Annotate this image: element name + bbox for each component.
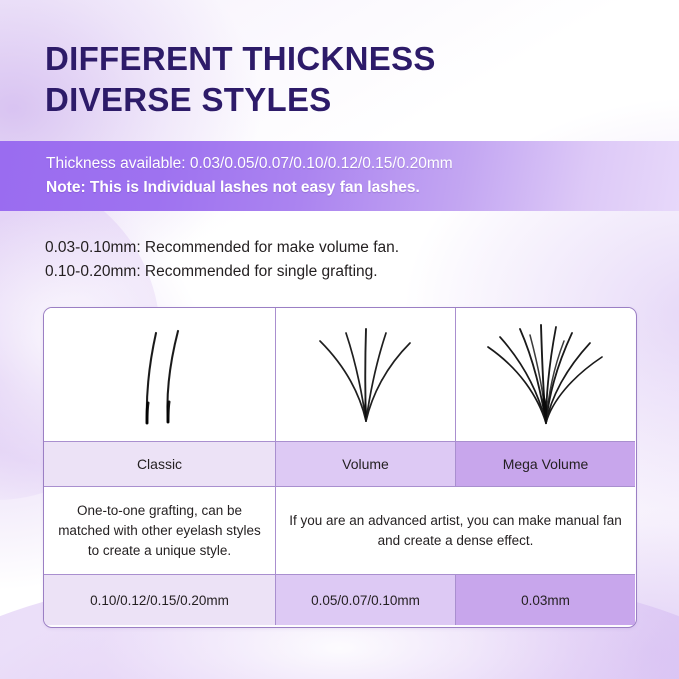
page-content: DIFFERENT THICKNESS DIVERSE STYLES Thick…	[0, 0, 679, 679]
classic-lash-illustration	[100, 319, 220, 431]
recommendation-single-grafting: 0.10-0.20mm: Recommended for single graf…	[45, 260, 645, 284]
thickness-classic: 0.10/0.12/0.15/0.20mm	[44, 575, 276, 625]
table-row-illustrations	[44, 308, 636, 442]
thickness-banner: Thickness available: 0.03/0.05/0.07/0.10…	[0, 141, 679, 211]
cell-illustration-classic	[44, 308, 276, 442]
banner-note: Note: This is Individual lashes not easy…	[46, 176, 679, 200]
thickness-volume: 0.05/0.07/0.10mm	[276, 575, 456, 625]
description-classic: One-to-one grafting, can be matched with…	[44, 487, 276, 575]
table-row-descriptions: One-to-one grafting, can be matched with…	[44, 487, 636, 575]
lash-styles-comparison-table: Classic Volume Mega Volume One-to-one gr…	[43, 307, 637, 628]
page-title-line-1: DIFFERENT THICKNESS	[45, 38, 645, 79]
table-row-style-labels: Classic Volume Mega Volume	[44, 442, 636, 487]
description-volume-mega: If you are an advanced artist, you can m…	[276, 487, 635, 575]
table-row-thickness: 0.10/0.12/0.15/0.20mm 0.05/0.07/0.10mm 0…	[44, 575, 636, 625]
cell-illustration-mega	[456, 308, 635, 442]
label-mega-volume: Mega Volume	[456, 442, 635, 487]
mega-volume-fan-illustration	[480, 317, 612, 433]
recommendation-block: 0.03-0.10mm: Recommended for make volume…	[45, 236, 645, 284]
volume-fan-illustration	[304, 319, 428, 431]
banner-thickness-available: Thickness available: 0.03/0.05/0.07/0.10…	[46, 152, 679, 176]
page-title: DIFFERENT THICKNESS DIVERSE STYLES	[45, 38, 645, 120]
label-classic: Classic	[44, 442, 276, 487]
label-volume: Volume	[276, 442, 456, 487]
page-title-line-2: DIVERSE STYLES	[45, 79, 645, 120]
recommendation-volume-fan: 0.03-0.10mm: Recommended for make volume…	[45, 236, 645, 260]
cell-illustration-volume	[276, 308, 456, 442]
thickness-mega: 0.03mm	[456, 575, 635, 625]
